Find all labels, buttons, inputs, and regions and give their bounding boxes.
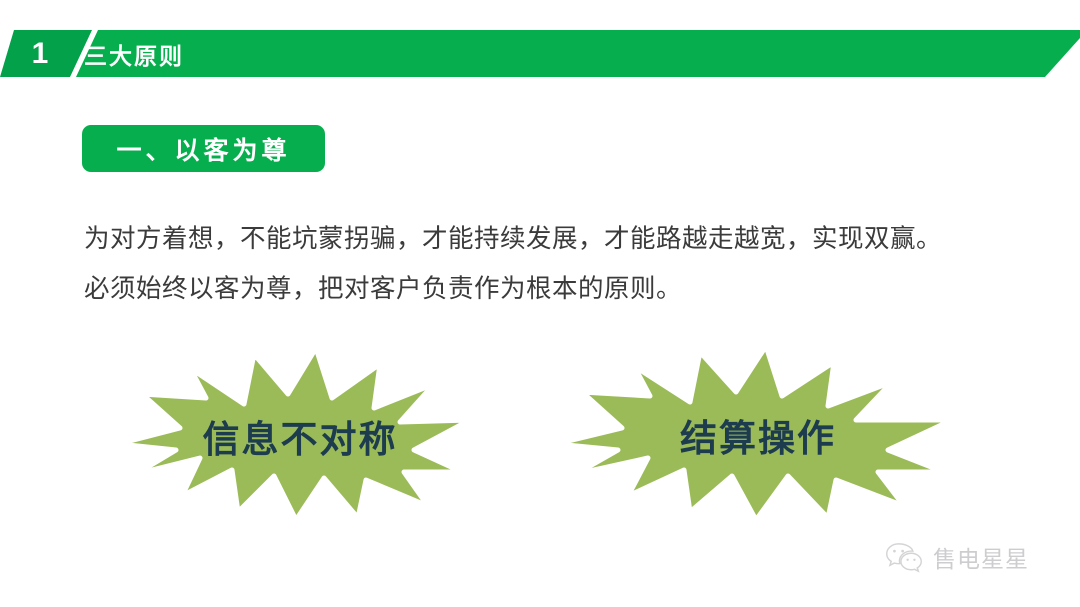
wechat-icon	[884, 541, 924, 574]
section-label-text: 一、以客为尊	[116, 131, 290, 167]
slide-canvas: 1 三大原则 一、以客为尊 为对方着想，不能坑蒙拐骗，才能持续发展，才能路越走越…	[0, 0, 1080, 607]
section-label-pill: 一、以客为尊	[82, 125, 325, 172]
watermark: 售电星星	[884, 540, 1029, 574]
body-line-1: 为对方着想，不能坑蒙拐骗，才能持续发展，才能路越走越宽，实现双赢。	[84, 214, 1004, 264]
starburst-shape-2: 结算操作	[556, 344, 952, 522]
body-line-2: 必须始终以客为尊，把对客户负责作为根本的原则。	[84, 264, 1004, 314]
body-paragraph: 为对方着想，不能坑蒙拐骗，才能持续发展，才能路越走越宽，实现双赢。 必须始终以客…	[84, 214, 1004, 314]
page-title: 三大原则	[84, 30, 184, 77]
header-banner-body	[76, 30, 1080, 77]
header-number: 1	[0, 30, 86, 77]
watermark-text: 售电星星	[933, 540, 1029, 574]
starburst-polygon-1	[118, 348, 470, 520]
starburst-shape-1: 信息不对称	[118, 346, 470, 522]
starburst-polygon-2	[556, 346, 952, 520]
